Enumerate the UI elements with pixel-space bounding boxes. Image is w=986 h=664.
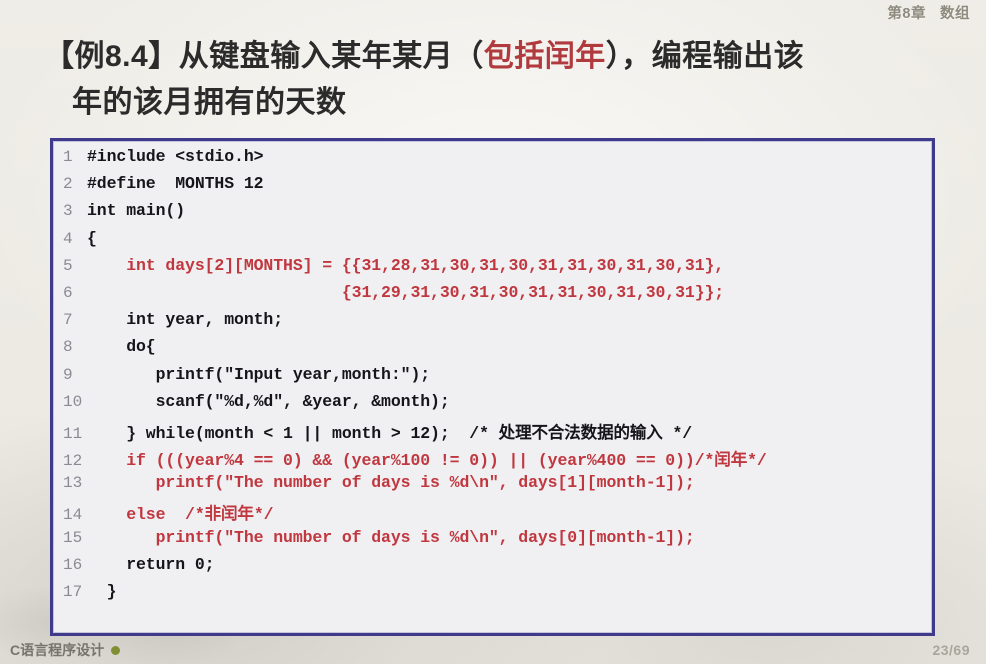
code-line-number: 16 (53, 556, 87, 574)
slide-header: 第8章 数组 (887, 2, 970, 23)
code-line-number: 3 (53, 202, 87, 220)
code-line: 3int main() (53, 201, 932, 228)
code-line-text: #define MONTHS 12 (87, 174, 263, 193)
code-lines-container: 1#include <stdio.h>2#define MONTHS 123in… (53, 141, 932, 609)
code-line-text: } while(month < 1 || month > 12); /* 处理不… (87, 419, 692, 443)
code-line: 4{ (53, 229, 932, 256)
code-line: 8 do{ (53, 337, 932, 364)
code-line-number: 7 (53, 311, 87, 329)
code-line-number: 9 (53, 366, 87, 384)
code-line: 13 printf("The number of days is %d\n", … (53, 473, 932, 500)
code-line: 7 int year, month; (53, 310, 932, 337)
code-line-number: 12 (53, 452, 87, 470)
code-line-text: { (87, 229, 97, 248)
code-line-number: 15 (53, 529, 87, 547)
code-line-text: printf("The number of days is %d\n", day… (87, 528, 695, 547)
code-line-number: 5 (53, 257, 87, 275)
code-line-text: else /*非闰年*/ (87, 500, 273, 524)
page-title: 【例8.4】从键盘输入某年某月（包括闰年），编程输出该 年的该月拥有的天数 (44, 34, 974, 126)
code-line: 12 if (((year%4 == 0) && (year%100 != 0)… (53, 446, 932, 473)
code-line: 5 int days[2][MONTHS] = {{31,28,31,30,31… (53, 256, 932, 283)
code-line-number: 14 (53, 506, 87, 524)
code-line-text: #include <stdio.h> (87, 147, 263, 166)
code-line-number: 6 (53, 284, 87, 302)
code-line: 14 else /*非闰年*/ (53, 500, 932, 527)
code-line: 9 printf("Input year,month:"); (53, 365, 932, 392)
code-line: 2#define MONTHS 12 (53, 174, 932, 201)
code-line-number: 1 (53, 148, 87, 166)
code-line: 11 } while(month < 1 || month > 12); /* … (53, 419, 932, 446)
code-line-text: scanf("%d,%d", &year, &month); (87, 392, 450, 411)
code-line: 17 } (53, 582, 932, 609)
code-line-text: do{ (87, 337, 156, 356)
code-line-number: 4 (53, 230, 87, 248)
code-line-text: printf("The number of days is %d\n", day… (87, 473, 695, 492)
footer-course: C语言程序设计 (10, 640, 120, 660)
code-line-text: int year, month; (87, 310, 283, 329)
code-line-text: int main() (87, 201, 185, 220)
code-line-text: if (((year%4 == 0) && (year%100 != 0)) |… (87, 446, 767, 470)
code-listing: 1#include <stdio.h>2#define MONTHS 123in… (50, 138, 935, 636)
footer-course-label: C语言程序设计 (10, 640, 104, 660)
code-line-number: 13 (53, 474, 87, 492)
code-line: 1#include <stdio.h> (53, 147, 932, 174)
header-chapter: 第8章 (887, 2, 926, 23)
code-line-text: printf("Input year,month:"); (87, 365, 430, 384)
title-line1-highlight: 包括闰年 (484, 40, 606, 73)
code-line-text: return 0; (87, 555, 214, 574)
code-line-number: 17 (53, 583, 87, 601)
code-line-number: 8 (53, 338, 87, 356)
code-line-text: } (87, 582, 116, 601)
header-section: 数组 (940, 2, 970, 23)
title-line1-suffix: ），编程输出该 (606, 40, 805, 73)
title-line1-prefix: 【例8.4】从键盘输入某年某月（ (44, 40, 484, 73)
code-line: 16 return 0; (53, 555, 932, 582)
code-line-number: 2 (53, 175, 87, 193)
code-line: 15 printf("The number of days is %d\n", … (53, 528, 932, 555)
code-line: 10 scanf("%d,%d", &year, &month); (53, 392, 932, 419)
code-line: 6 {31,29,31,30,31,30,31,31,30,31,30,31}}… (53, 283, 932, 310)
code-line-text: {31,29,31,30,31,30,31,31,30,31,30,31}}; (87, 283, 724, 302)
footer-dot-icon (111, 646, 120, 655)
code-line-number: 10 (53, 393, 87, 411)
title-line2: 年的该月拥有的天数 (44, 80, 974, 126)
code-line-number: 11 (53, 425, 87, 443)
page-number: 23/69 (932, 642, 970, 658)
code-line-text: int days[2][MONTHS] = {{31,28,31,30,31,3… (87, 256, 724, 275)
